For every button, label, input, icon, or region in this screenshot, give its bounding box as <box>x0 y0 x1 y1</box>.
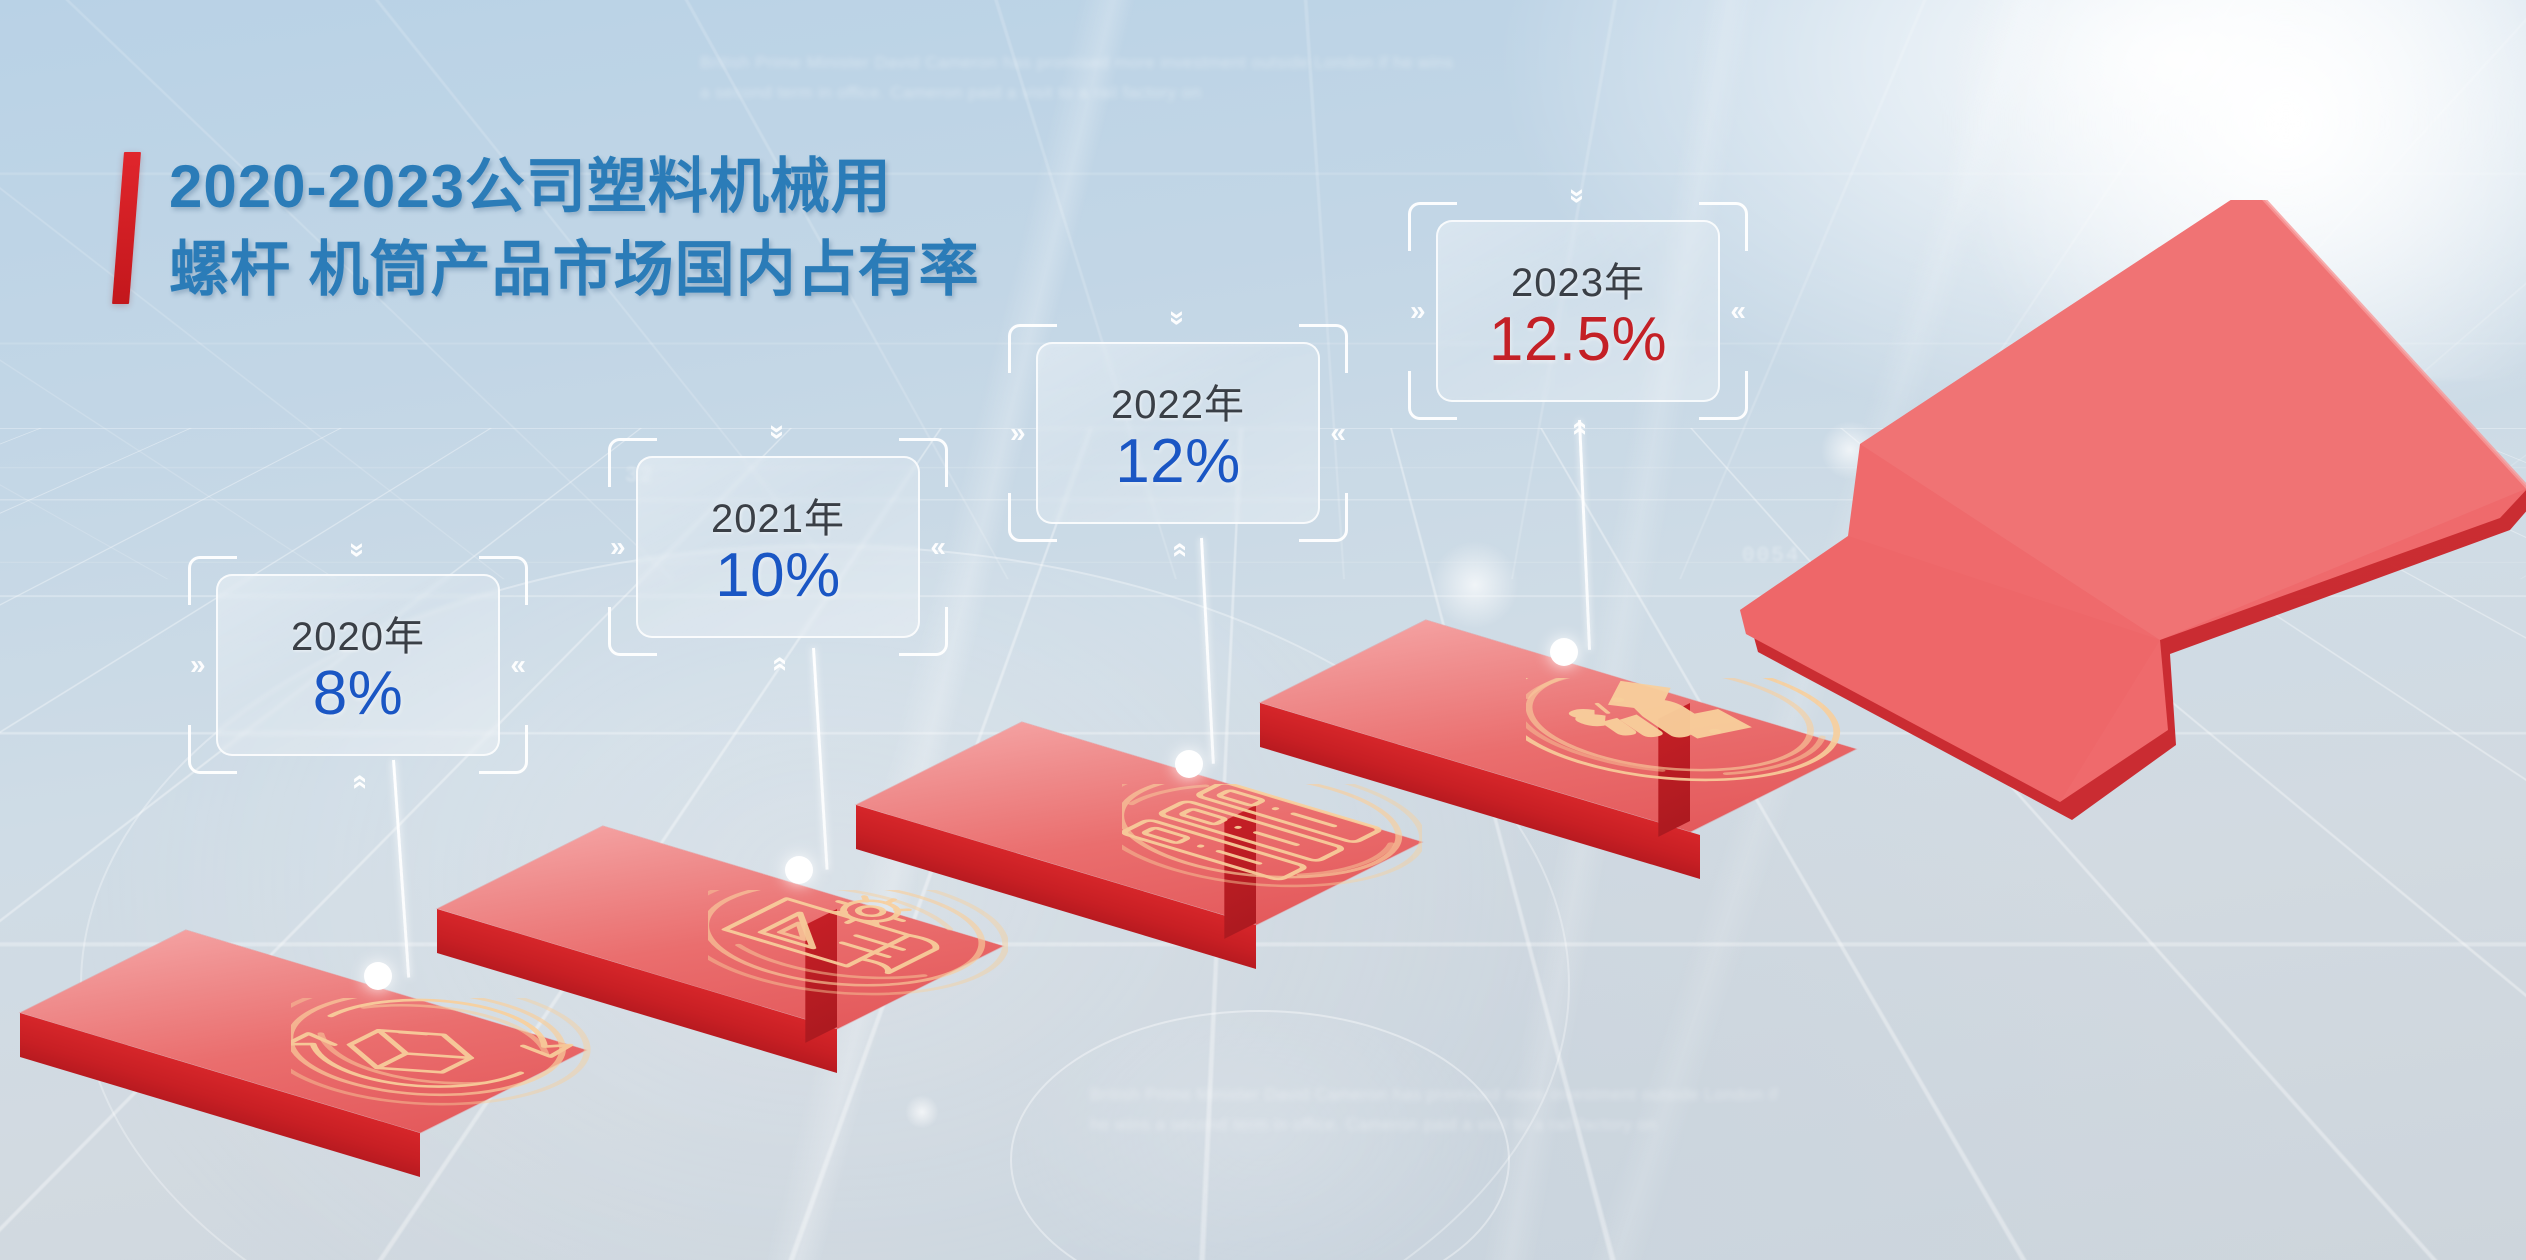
card-value-label: 8% <box>188 658 528 729</box>
card-value-label: 10% <box>608 540 948 611</box>
card-year-label: 2022年 <box>1008 372 1348 430</box>
infographic-canvas: British Prime Minister David Cameron has… <box>0 0 2526 1260</box>
chevron-down-icon-bottom: » <box>764 656 792 672</box>
chart-title-line-1: 2020-2023公司塑料机械用 <box>169 152 980 221</box>
corner-bracket-bl <box>608 607 657 656</box>
card-value-label: 12.5% <box>1408 304 1748 375</box>
chevron-down-icon-top: » <box>1164 310 1192 326</box>
chevron-down-icon-top: » <box>764 424 792 440</box>
connector-dot-3 <box>1175 750 1203 778</box>
bokeh-dot <box>905 1095 939 1129</box>
chevron-down-icon-bottom: » <box>344 774 372 790</box>
stat-card-2023[interactable]: » « » » 2023年 12.5% <box>1408 196 1748 426</box>
card-value-label: 12% <box>1008 426 1348 497</box>
corner-bracket-bl <box>1008 493 1057 542</box>
corner-bracket-br <box>1699 371 1748 420</box>
card-year-label: 2023年 <box>1408 250 1748 308</box>
growth-arrow <box>1740 200 2526 820</box>
chevron-down-icon-top: » <box>344 542 372 558</box>
chart-title-block: 2020-2023公司塑料机械用 螺杆 机筒产品市场国内占有率 <box>118 152 980 304</box>
corner-bracket-tl <box>1008 324 1057 373</box>
corner-bracket-bl <box>1408 371 1457 420</box>
corner-bracket-tr <box>899 438 948 487</box>
corner-bracket-tr <box>1699 202 1748 251</box>
chevron-down-icon-top: » <box>1564 188 1592 204</box>
corner-bracket-br <box>899 607 948 656</box>
stat-card-2021[interactable]: » « » » 2021年 10% <box>608 432 948 662</box>
card-year-label: 2021年 <box>608 486 948 544</box>
chevron-down-icon-bottom: » <box>1164 542 1192 558</box>
corner-bracket-br <box>479 725 528 774</box>
step-side-edge-3 <box>1224 805 1256 939</box>
chart-title-line-2: 螺杆 机筒产品市场国内占有率 <box>169 235 980 304</box>
corner-bracket-tl <box>188 556 237 605</box>
corner-bracket-tl <box>608 438 657 487</box>
stat-card-2022[interactable]: » « » » 2022年 12% <box>1008 318 1348 548</box>
card-year-label: 2020年 <box>188 604 528 662</box>
corner-bracket-tr <box>1299 324 1348 373</box>
chevron-down-icon-bottom: » <box>1564 420 1592 436</box>
corner-bracket-bl <box>188 725 237 774</box>
connector-dot-4 <box>1550 638 1578 666</box>
connector-dot-2 <box>785 856 813 884</box>
bokeh-dot <box>1430 540 1520 630</box>
step-side-edge-4 <box>1658 703 1690 837</box>
corner-bracket-tr <box>479 556 528 605</box>
connector-dot-1 <box>364 962 392 990</box>
corner-bracket-br <box>1299 493 1348 542</box>
stat-card-2020[interactable]: » « » » 2020年 8% <box>188 550 528 780</box>
step-side-edge-2 <box>805 909 837 1043</box>
corner-bracket-tl <box>1408 202 1457 251</box>
